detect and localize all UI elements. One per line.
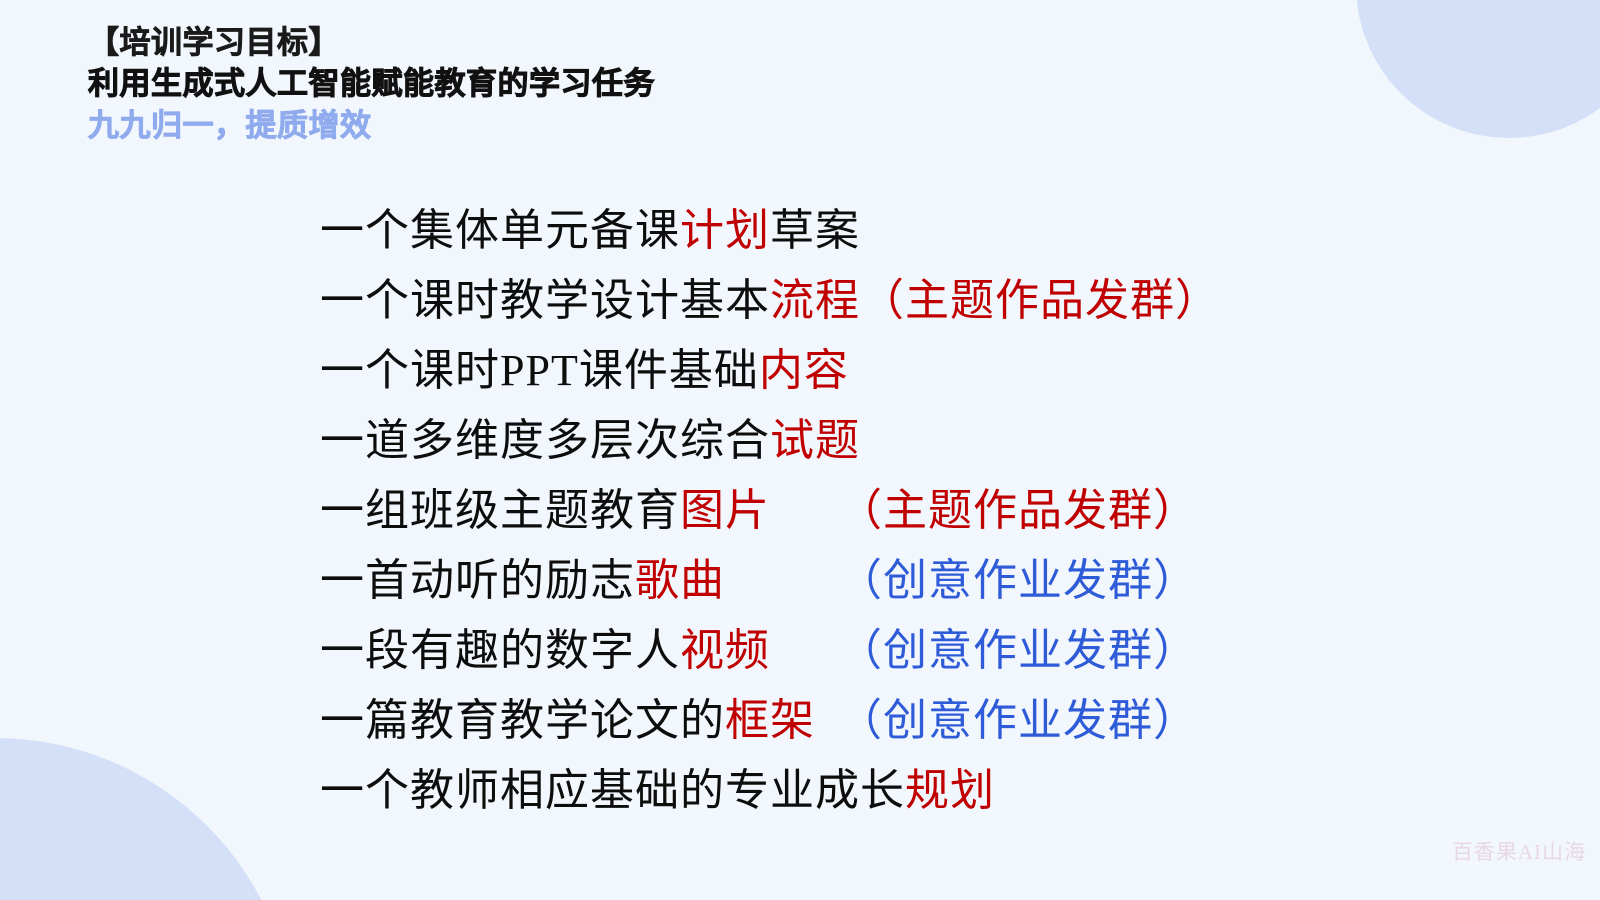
task-text-segment-red: 内容 <box>759 346 849 395</box>
task-text-segment-blue: （创意作业发群） <box>860 696 1198 745</box>
learning-task-line: 一篇教育教学论文的框架 （创意作业发群） <box>320 686 1570 756</box>
decorative-circle-bottom-left <box>0 738 295 900</box>
task-text-segment-blue: （创意作业发群） <box>860 556 1198 605</box>
task-text-segment-red: 流程（主题作品发群） <box>770 276 1220 325</box>
task-text-segment-red: 计划 <box>680 206 770 255</box>
header-title-bracketed: 【培训学习目标】 <box>88 28 655 59</box>
task-text-segment-black: 一道多维度多层次综合 <box>320 416 770 465</box>
decorative-circle-top-right <box>1356 0 1600 138</box>
task-text-segment-black <box>770 486 860 535</box>
task-text-segment-black <box>770 626 860 675</box>
task-text-segment-black: 一组班级主题教育 <box>320 486 680 535</box>
task-text-segment-black: 一个课时教学设计基本 <box>320 276 770 325</box>
task-text-segment-black: 一个教师相应基础的专业成长 <box>320 766 905 815</box>
task-text-segment-blue: （创意作业发群） <box>860 626 1198 675</box>
learning-task-line: 一个集体单元备课计划草案 <box>320 196 1570 266</box>
slide-header: 【培训学习目标】 利用生成式人工智能赋能教育的学习任务 九九归一，提质增效 <box>88 28 655 142</box>
task-text-segment-red: 视频 <box>680 626 770 675</box>
task-text-segment-red: 规划 <box>905 766 995 815</box>
learning-task-line: 一个课时PPT课件基础内容 <box>320 336 1570 406</box>
learning-task-list: 一个集体单元备课计划草案一个课时教学设计基本流程（主题作品发群）一个课时PPT课… <box>320 196 1570 826</box>
header-subtitle: 利用生成式人工智能赋能教育的学习任务 <box>88 69 655 100</box>
watermark-label: 百香果AI山海 <box>1452 836 1586 866</box>
task-text-segment-red: 框架 <box>725 696 815 745</box>
task-text-segment-black: 一篇教育教学论文的 <box>320 696 725 745</box>
task-text-segment-black <box>815 696 860 745</box>
learning-task-line: 一个教师相应基础的专业成长规划 <box>320 756 1570 826</box>
task-text-segment-black <box>725 556 860 605</box>
learning-task-line: 一个课时教学设计基本流程（主题作品发群） <box>320 266 1570 336</box>
task-text-segment-black: 草案 <box>770 206 860 255</box>
task-text-segment-red: （主题作品发群） <box>860 486 1198 535</box>
task-text-segment-red: 歌曲 <box>635 556 725 605</box>
learning-task-line: 一首动听的励志歌曲 （创意作业发群） <box>320 546 1570 616</box>
task-text-segment-black: 一个课时PPT课件基础 <box>320 346 759 395</box>
learning-task-line: 一组班级主题教育图片 （主题作品发群） <box>320 476 1570 546</box>
task-text-segment-black: 一个集体单元备课 <box>320 206 680 255</box>
task-text-segment-black: 一首动听的励志 <box>320 556 635 605</box>
task-text-segment-red: 试题 <box>770 416 860 465</box>
learning-task-line: 一段有趣的数字人视频 （创意作业发群） <box>320 616 1570 686</box>
task-text-segment-red: 图片 <box>680 486 770 535</box>
learning-task-line: 一道多维度多层次综合试题 <box>320 406 1570 476</box>
header-tagline: 九九归一，提质增效 <box>88 111 655 142</box>
task-text-segment-black: 一段有趣的数字人 <box>320 626 680 675</box>
slide-canvas: 【培训学习目标】 利用生成式人工智能赋能教育的学习任务 九九归一，提质增效 一个… <box>0 0 1600 900</box>
